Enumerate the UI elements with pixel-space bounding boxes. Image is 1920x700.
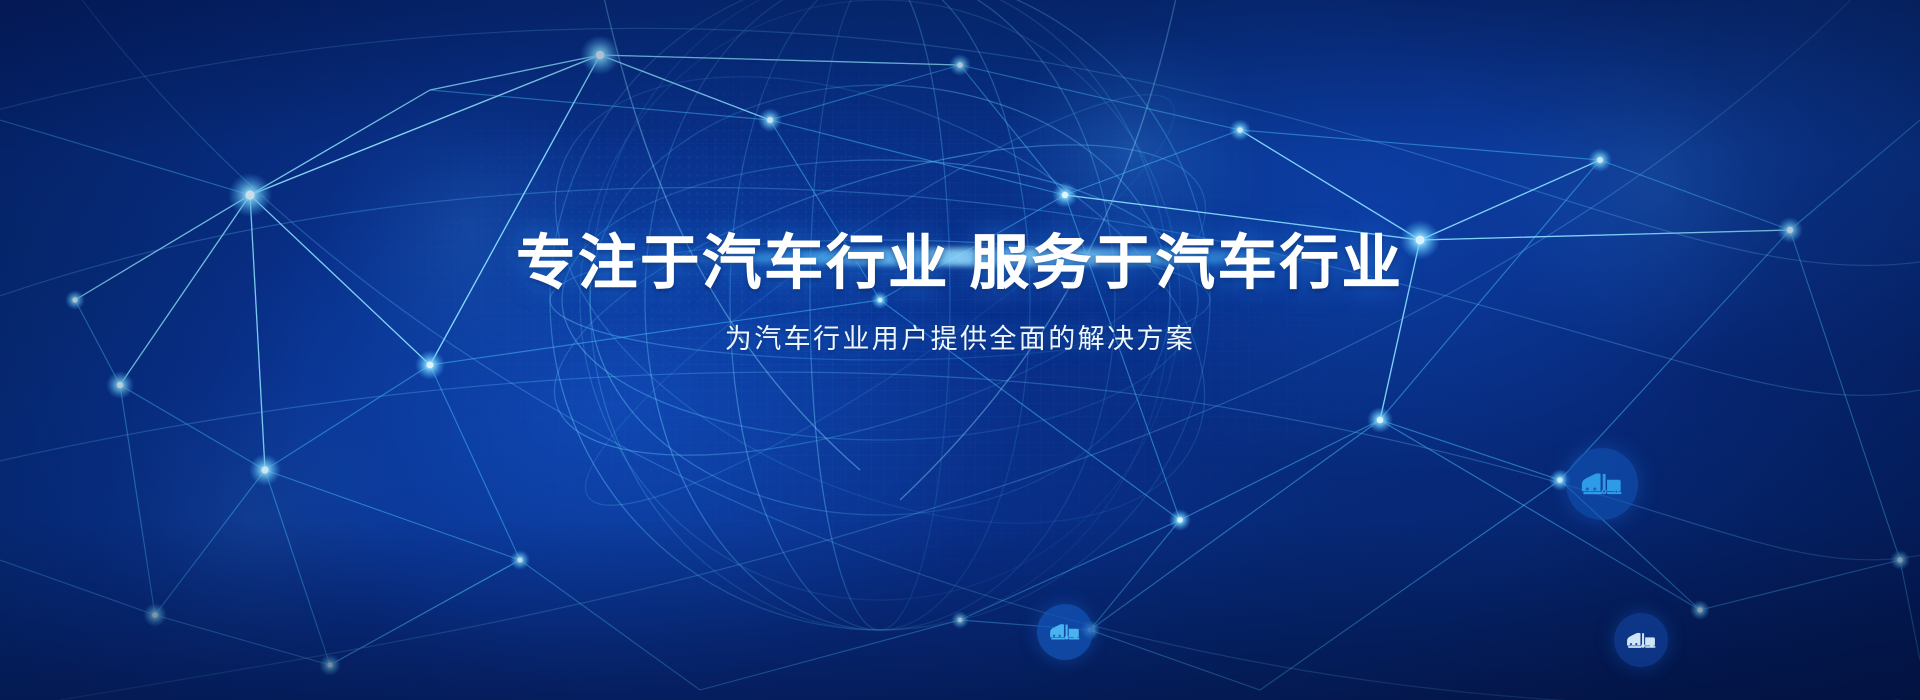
hero-subheadline: 为汽车行业用户提供全面的解决方案 (0, 317, 1920, 356)
hero-headline: 专注于汽车行业 服务于汽车行业 (0, 232, 1920, 295)
truck-icon (1625, 624, 1658, 657)
network-node-cores (72, 51, 1902, 668)
truck-badge-medium (1037, 604, 1093, 660)
truck-badge-large (1566, 448, 1638, 520)
truck-icon (1048, 615, 1082, 649)
hero-text-block: 专注于汽车行业 服务于汽车行业 为汽车行业用户提供全面的解决方案 (0, 232, 1920, 356)
truck-badge-small (1614, 613, 1668, 667)
truck-icon (1579, 461, 1625, 507)
hero-banner: 专注于汽车行业 服务于汽车行业 为汽车行业用户提供全面的解决方案 (0, 0, 1920, 700)
